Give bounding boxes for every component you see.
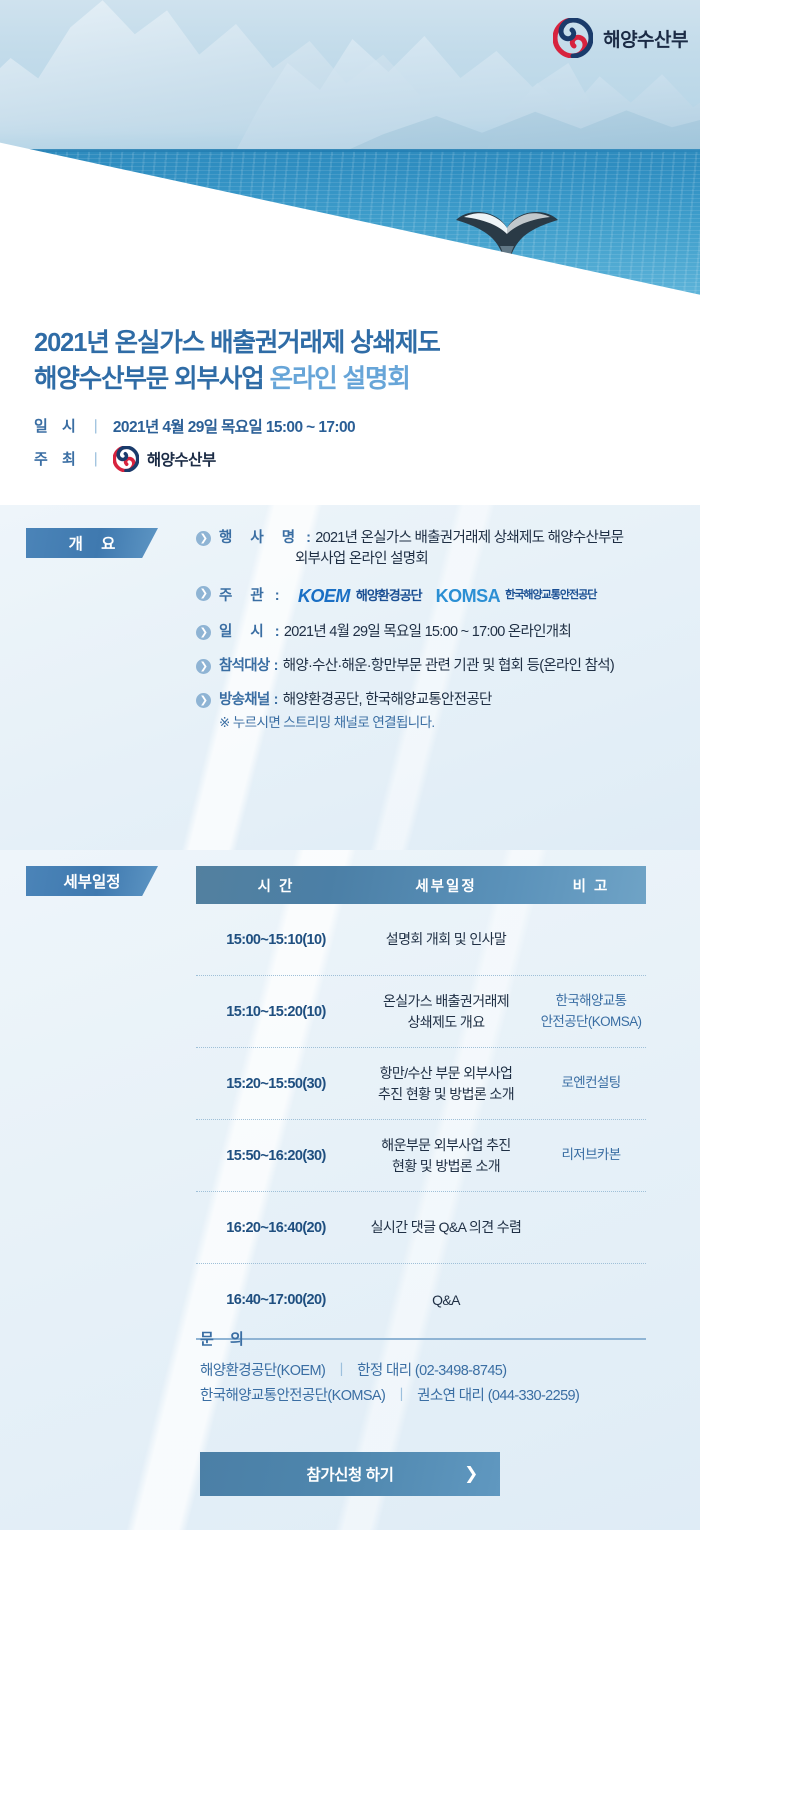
korea-government-emblem-icon: [553, 18, 593, 58]
schedule-table-body: 15:00~15:10(10)설명회 개회 및 인사말15:10~15:20(1…: [196, 904, 646, 1336]
overview-key: 행 사 명: [219, 530, 302, 546]
cell-time: 15:10~15:20(10): [196, 1004, 356, 1020]
contact-person: 한정 대리 (02-3498-8745): [357, 1363, 506, 1379]
host-name-label: 해양수산부: [147, 448, 216, 470]
koem-subtitle: 해양환경공단: [356, 587, 422, 606]
cell-note: 로엔컨설팅: [536, 1073, 646, 1093]
overview-item-body: 참석대상:해양·수산·해운·항만부문 관련 기관 및 협회 등(온라인 참석): [219, 656, 614, 677]
hero-banner: 해양수산부: [0, 0, 700, 300]
chevron-right-icon: ❯: [196, 531, 211, 546]
chevron-right-icon: ❯: [196, 586, 211, 601]
komsa-subtitle: 한국해양교통안전공단: [505, 588, 596, 604]
cell-time: 16:20~16:40(20): [196, 1220, 356, 1236]
column-header-time: 시 간: [196, 875, 356, 896]
chevron-right-icon: ❯: [196, 625, 211, 640]
register-button[interactable]: 참가신청 하기 ❯: [200, 1452, 500, 1496]
horizon-line: [0, 149, 700, 152]
overview-item-body: 주 관: KOEM 해양환경공단 KOMSA 한국해양교통안전공단: [219, 583, 596, 609]
overview-colon: :: [274, 692, 278, 708]
chevron-right-icon: ❯: [196, 693, 211, 708]
contact-separator: 丨: [394, 1388, 408, 1404]
contact-line: 한국해양교통안전공단(KOMSA)丨권소연 대리 (044-330-2259): [200, 1384, 650, 1409]
cell-detail: 해운부문 외부사업 추진현황 및 방법론 소개: [356, 1135, 536, 1177]
overview-value: 해양환경공단, 한국해양교통안전공단: [283, 692, 492, 708]
overview-key: 일 시: [219, 624, 271, 640]
cell-time: 16:40~17:00(20): [196, 1292, 356, 1308]
overview-value-cont: 외부사업 온라인 설명회: [295, 549, 428, 570]
korea-government-emblem-icon-small: [113, 446, 139, 472]
overview-value: 해양·수산·해운·항만부문 관련 기관 및 협회 등(온라인 참석): [283, 658, 614, 674]
chevron-right-icon: ❯: [196, 659, 211, 674]
meta-separator-1: 丨: [88, 415, 103, 437]
contact-block: 문 의 해양환경공단(KOEM)丨한정 대리 (02-3498-8745)한국해…: [200, 1328, 650, 1410]
overview-item-attendees: ❯ 참석대상:해양·수산·해운·항만부문 관련 기관 및 협회 등(온라인 참석…: [196, 656, 666, 677]
overview-colon: :: [306, 530, 310, 546]
chevron-right-icon: ❯: [464, 1464, 478, 1484]
column-header-note: 비 고: [536, 875, 646, 896]
overview-item-datetime: ❯ 일 시:2021년 4월 29일 목요일 15:00 ~ 17:00 온라인…: [196, 622, 666, 643]
overview-colon: :: [275, 624, 279, 640]
column-header-detail: 세부일정: [356, 875, 536, 896]
cell-note: 리저브카본: [536, 1145, 646, 1165]
overview-key: 방송채널: [219, 692, 270, 708]
streaming-note: ※ 누르시면 스트리밍 채널로 연결됩니다.: [219, 711, 666, 731]
overview-colon: :: [274, 658, 278, 674]
table-row: 15:50~16:20(30)해운부문 외부사업 추진현황 및 방법론 소개리저…: [196, 1120, 646, 1192]
koem-wordmark: KOEM: [298, 583, 350, 609]
cell-detail: 설명회 개회 및 인사말: [356, 929, 536, 950]
koem-logo: KOEM 해양환경공단: [298, 583, 422, 609]
cell-detail: 항만/수산 부문 외부사업추진 현황 및 방법론 소개: [356, 1063, 536, 1105]
overview-item-body: 일 시:2021년 4월 29일 목요일 15:00 ~ 17:00 온라인개최: [219, 622, 571, 643]
komsa-logo: KOMSA 한국해양교통안전공단: [436, 583, 597, 609]
cell-detail: 온실가스 배출권거래제상쇄제도 개요: [356, 991, 536, 1033]
title-block: 2021년 온실가스 배출권거래제 상쇄제도 해양수산부문 외부사업 온라인 설…: [34, 325, 654, 479]
table-row: 16:20~16:40(20)실시간 댓글 Q&A 의견 수렴: [196, 1192, 646, 1264]
table-row: 15:00~15:10(10)설명회 개회 및 인사말: [196, 904, 646, 976]
overview-item-body: 행 사 명:2021년 온실가스 배출권거래제 상쇄제도 해양수산부문 외부사업…: [219, 528, 623, 570]
overview-key: 주 관: [219, 588, 271, 604]
table-header-row: 시 간 세부일정 비 고: [196, 866, 646, 904]
contact-lines: 해양환경공단(KOEM)丨한정 대리 (02-3498-8745)한국해양교통안…: [200, 1359, 650, 1410]
title-line-2: 해양수산부문 외부사업 온라인 설명회: [34, 361, 654, 397]
date-value: 2021년 4월 29일 목요일 15:00 ~ 17:00: [113, 415, 355, 437]
section-tag-schedule: 세부일정: [26, 866, 158, 896]
overview-colon: :: [275, 588, 279, 604]
table-row: 15:10~15:20(10)온실가스 배출권거래제상쇄제도 개요한국해양교통안…: [196, 976, 646, 1048]
contact-title: 문 의: [200, 1328, 650, 1349]
table-row: 16:40~17:00(20)Q&A: [196, 1264, 646, 1336]
title-line-2-light: 온라인 설명회: [270, 365, 410, 393]
cell-detail: 실시간 댓글 Q&A 의견 수렴: [356, 1217, 536, 1238]
overview-item-broadcast: ❯ 방송채널:해양환경공단, 한국해양교통안전공단: [196, 690, 666, 711]
cell-time: 15:50~16:20(30): [196, 1148, 356, 1164]
ministry-logo: 해양수산부: [553, 18, 688, 58]
table-row: 15:20~15:50(30)항만/수산 부문 외부사업추진 현황 및 방법론 …: [196, 1048, 646, 1120]
host-label: 주 최: [34, 448, 86, 469]
title-line-1: 2021년 온실가스 배출권거래제 상쇄제도: [34, 325, 654, 361]
meta-row-date: 일 시 丨 2021년 4월 29일 목요일 15:00 ~ 17:00: [34, 413, 654, 438]
meta-row-host: 주 최 丨 해양수산부: [34, 446, 654, 471]
meta-block: 일 시 丨 2021년 4월 29일 목요일 15:00 ~ 17:00 주 최…: [34, 413, 654, 471]
host-value-group: 해양수산부: [113, 446, 216, 472]
overview-item-organizers: ❯ 주 관: KOEM 해양환경공단 KOMSA 한국해양교통안전공단: [196, 583, 666, 609]
overview-list: ❯ 행 사 명:2021년 온실가스 배출권거래제 상쇄제도 해양수산부문 외부…: [196, 528, 666, 741]
register-button-label: 참가신청 하기: [306, 1463, 393, 1485]
contact-org: 해양환경공단(KOEM): [200, 1363, 325, 1379]
cell-time: 15:00~15:10(10): [196, 932, 356, 948]
overview-item-body: 방송채널:해양환경공단, 한국해양교통안전공단: [219, 690, 492, 711]
overview-value: 2021년 4월 29일 목요일 15:00 ~ 17:00 온라인개최: [284, 624, 571, 640]
komsa-wordmark: KOMSA: [436, 583, 501, 609]
ministry-name-label: 해양수산부: [603, 25, 688, 52]
contact-line: 해양환경공단(KOEM)丨한정 대리 (02-3498-8745): [200, 1359, 650, 1384]
poster-root: 해양수산부 2021년 온실가스 배출권거래제 상쇄제도 해양수산부문 외부사업…: [0, 0, 700, 1815]
title-line-2-dark: 해양수산부문 외부사업: [34, 365, 270, 393]
overview-key: 참석대상: [219, 658, 270, 674]
contact-org: 한국해양교통안전공단(KOMSA): [200, 1388, 385, 1404]
cell-time: 15:20~15:50(30): [196, 1076, 356, 1092]
overview-item-event-name: ❯ 행 사 명:2021년 온실가스 배출권거래제 상쇄제도 해양수산부문 외부…: [196, 528, 666, 570]
contact-separator: 丨: [334, 1363, 348, 1379]
date-label: 일 시: [34, 415, 86, 436]
section-tag-overview: 개 요: [26, 528, 158, 558]
contact-person: 권소연 대리 (044-330-2259): [417, 1388, 579, 1404]
cell-detail: Q&A: [356, 1290, 536, 1311]
schedule-table: 시 간 세부일정 비 고 15:00~15:10(10)설명회 개회 및 인사말…: [196, 866, 646, 1340]
cell-note: 한국해양교통안전공단(KOMSA): [536, 991, 646, 1032]
meta-separator-2: 丨: [88, 448, 103, 470]
overview-value: 2021년 온실가스 배출권거래제 상쇄제도 해양수산부문: [315, 530, 623, 546]
